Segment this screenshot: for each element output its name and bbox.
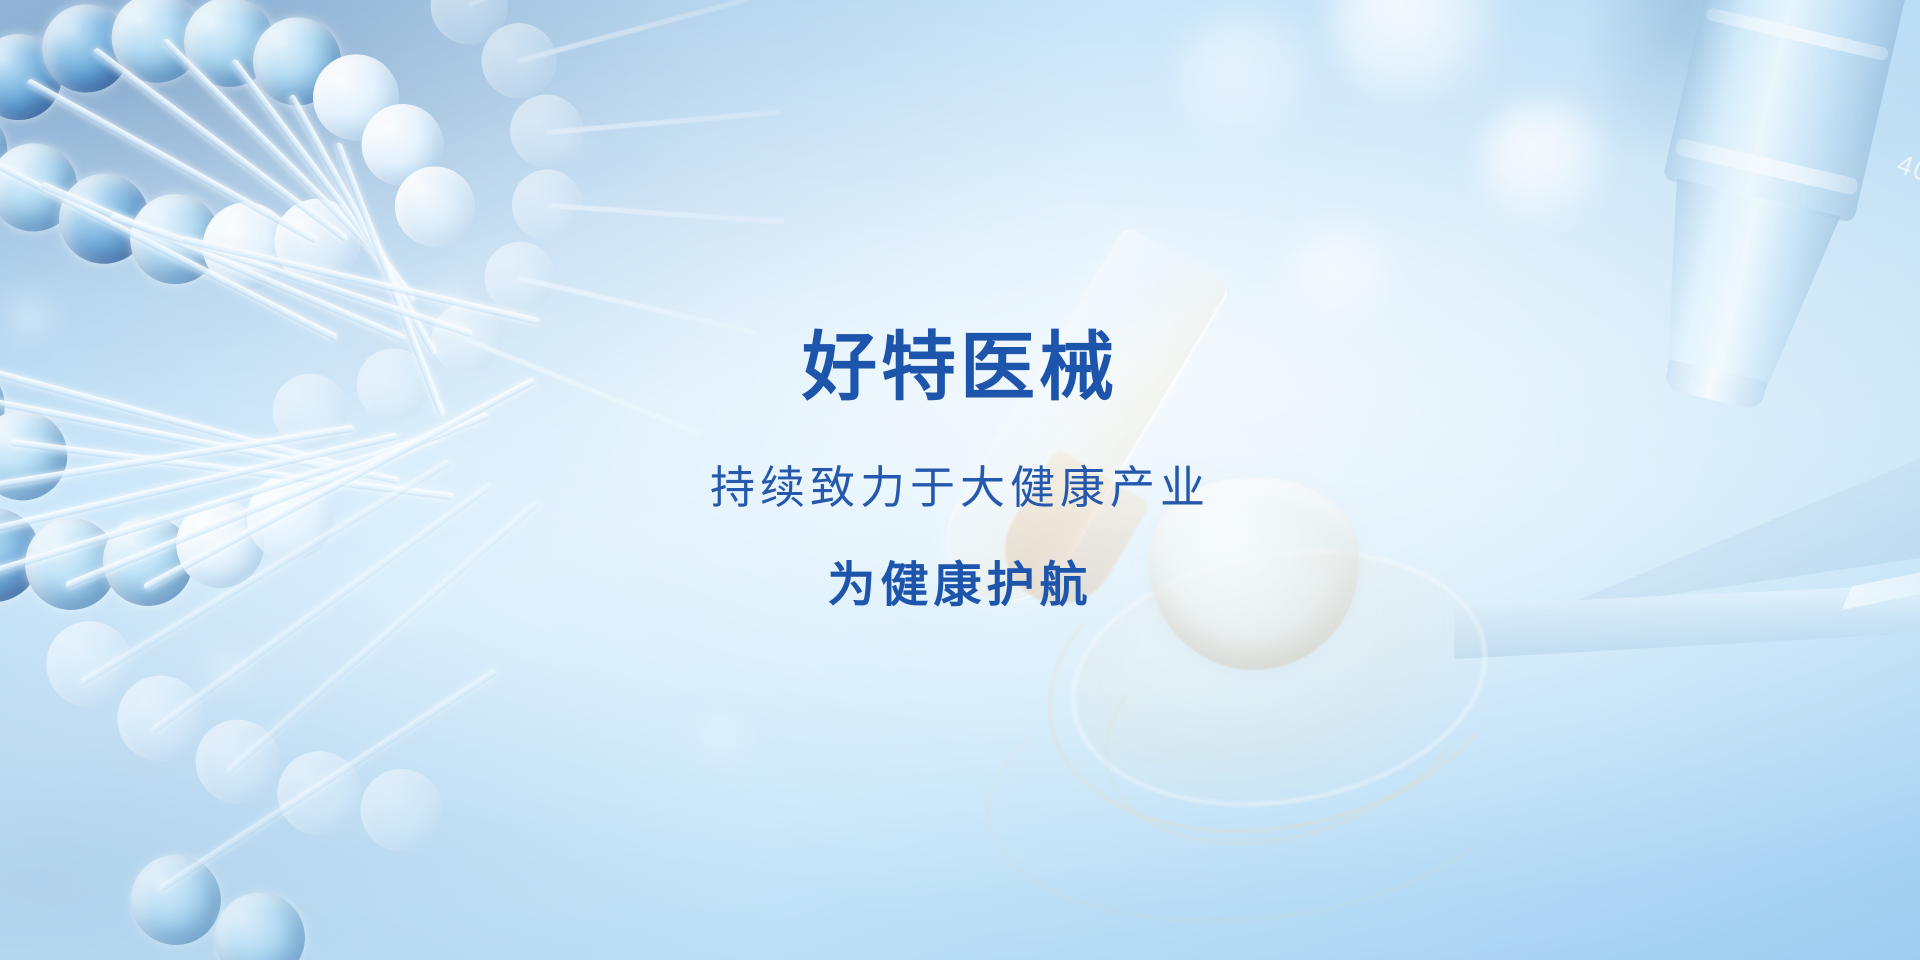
banner-copy-block: 好特医械 持续致力于大健康产业 为健康护航: [0, 330, 1920, 610]
banner-tagline: 持续致力于大健康产业: [0, 465, 1920, 510]
banner-headline: 好特医械: [0, 330, 1920, 405]
hero-banner: 40: [0, 0, 1920, 960]
objective-magnification-label: 40: [1893, 149, 1920, 189]
banner-slogan: 为健康护航: [0, 562, 1920, 610]
